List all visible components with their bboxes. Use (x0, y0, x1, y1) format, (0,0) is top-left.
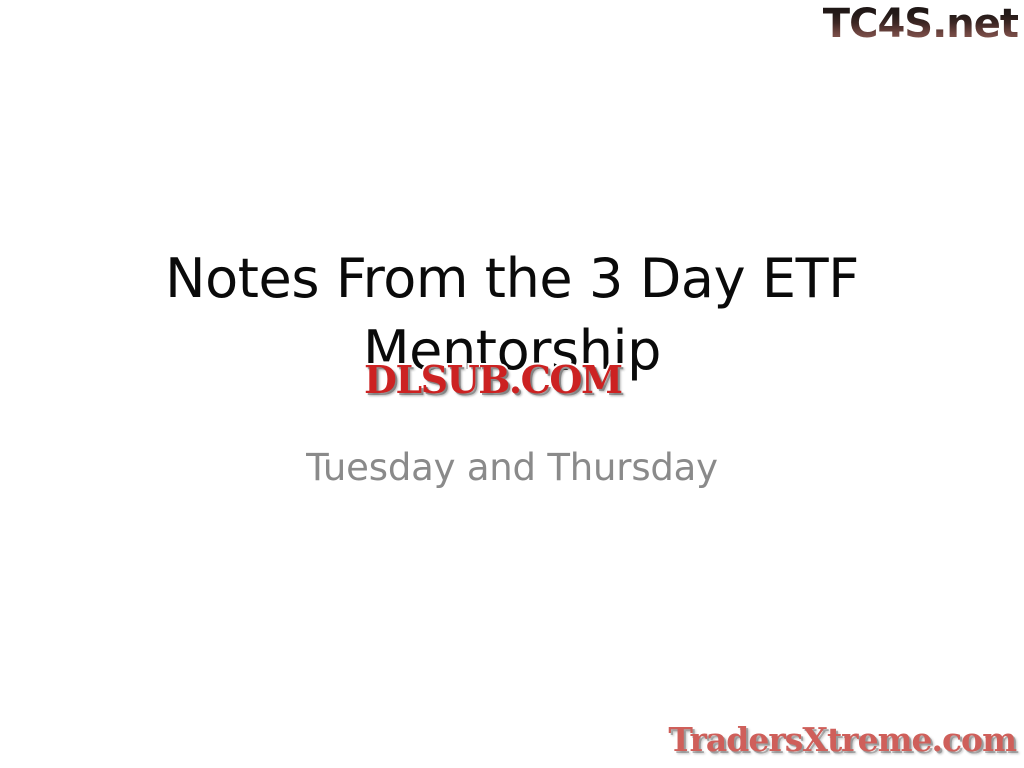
presentation-slide: TC4S.net Notes From the 3 Day ETF Mentor… (0, 0, 1024, 768)
dlsub-watermark-text: DLSUB.COM (364, 357, 622, 402)
slide-subtitle: Tuesday and Thursday (112, 443, 912, 493)
slide-title-line-1: Notes From the 3 Day ETF (112, 243, 912, 315)
dlsub-watermark: DLSUB.COM (364, 358, 622, 402)
tradersxtreme-brand-logo: TradersXtreme.com (668, 720, 1016, 760)
tc4s-brand-logo: TC4S.net (823, 2, 1018, 46)
